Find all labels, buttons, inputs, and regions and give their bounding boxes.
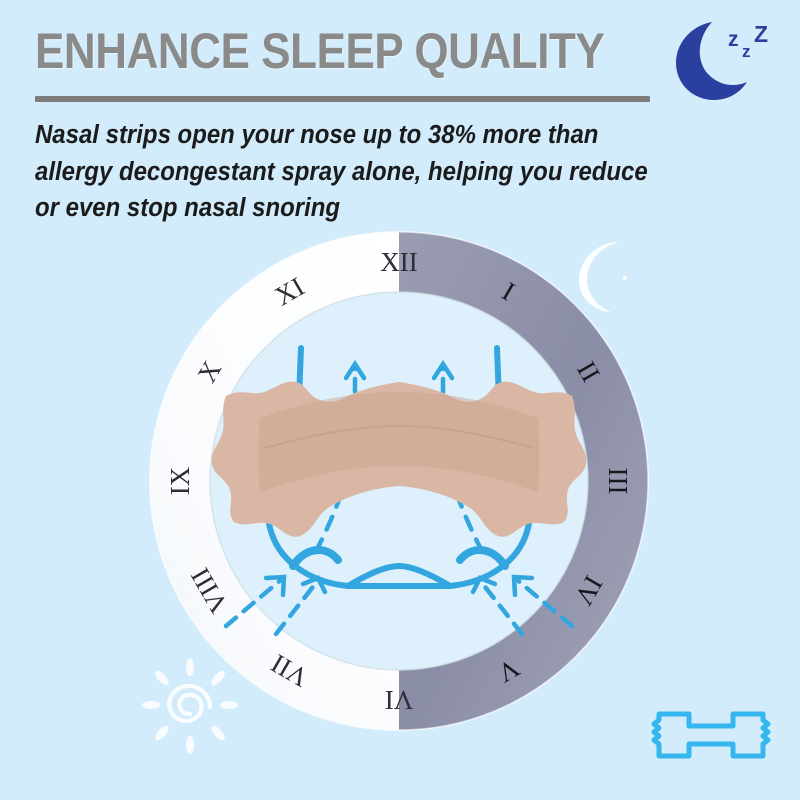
svg-text:z: z — [742, 42, 751, 61]
svg-text:z: z — [728, 28, 739, 51]
body-paragraph: Nasal strips open your nose up to 38% mo… — [35, 117, 665, 227]
crescent-moon-zzz-icon: z z Z — [668, 16, 780, 102]
header-divider — [35, 96, 650, 102]
clock-numeral-6: VI — [385, 685, 414, 715]
nasal-strip-outline-icon — [645, 700, 777, 770]
clock-numeral-9: IX — [165, 466, 195, 495]
page-title: ENHANCE SLEEP QUALITY — [35, 26, 604, 76]
day-night-clock: XII I II III IV V VI — [148, 230, 650, 732]
svg-text:Z: Z — [754, 21, 768, 47]
clock-numeral-12: XII — [380, 247, 417, 277]
clock-numeral-3: III — [603, 468, 633, 495]
banner-canvas: ENHANCE SLEEP QUALITY z z Z Nasal strips… — [0, 0, 800, 800]
